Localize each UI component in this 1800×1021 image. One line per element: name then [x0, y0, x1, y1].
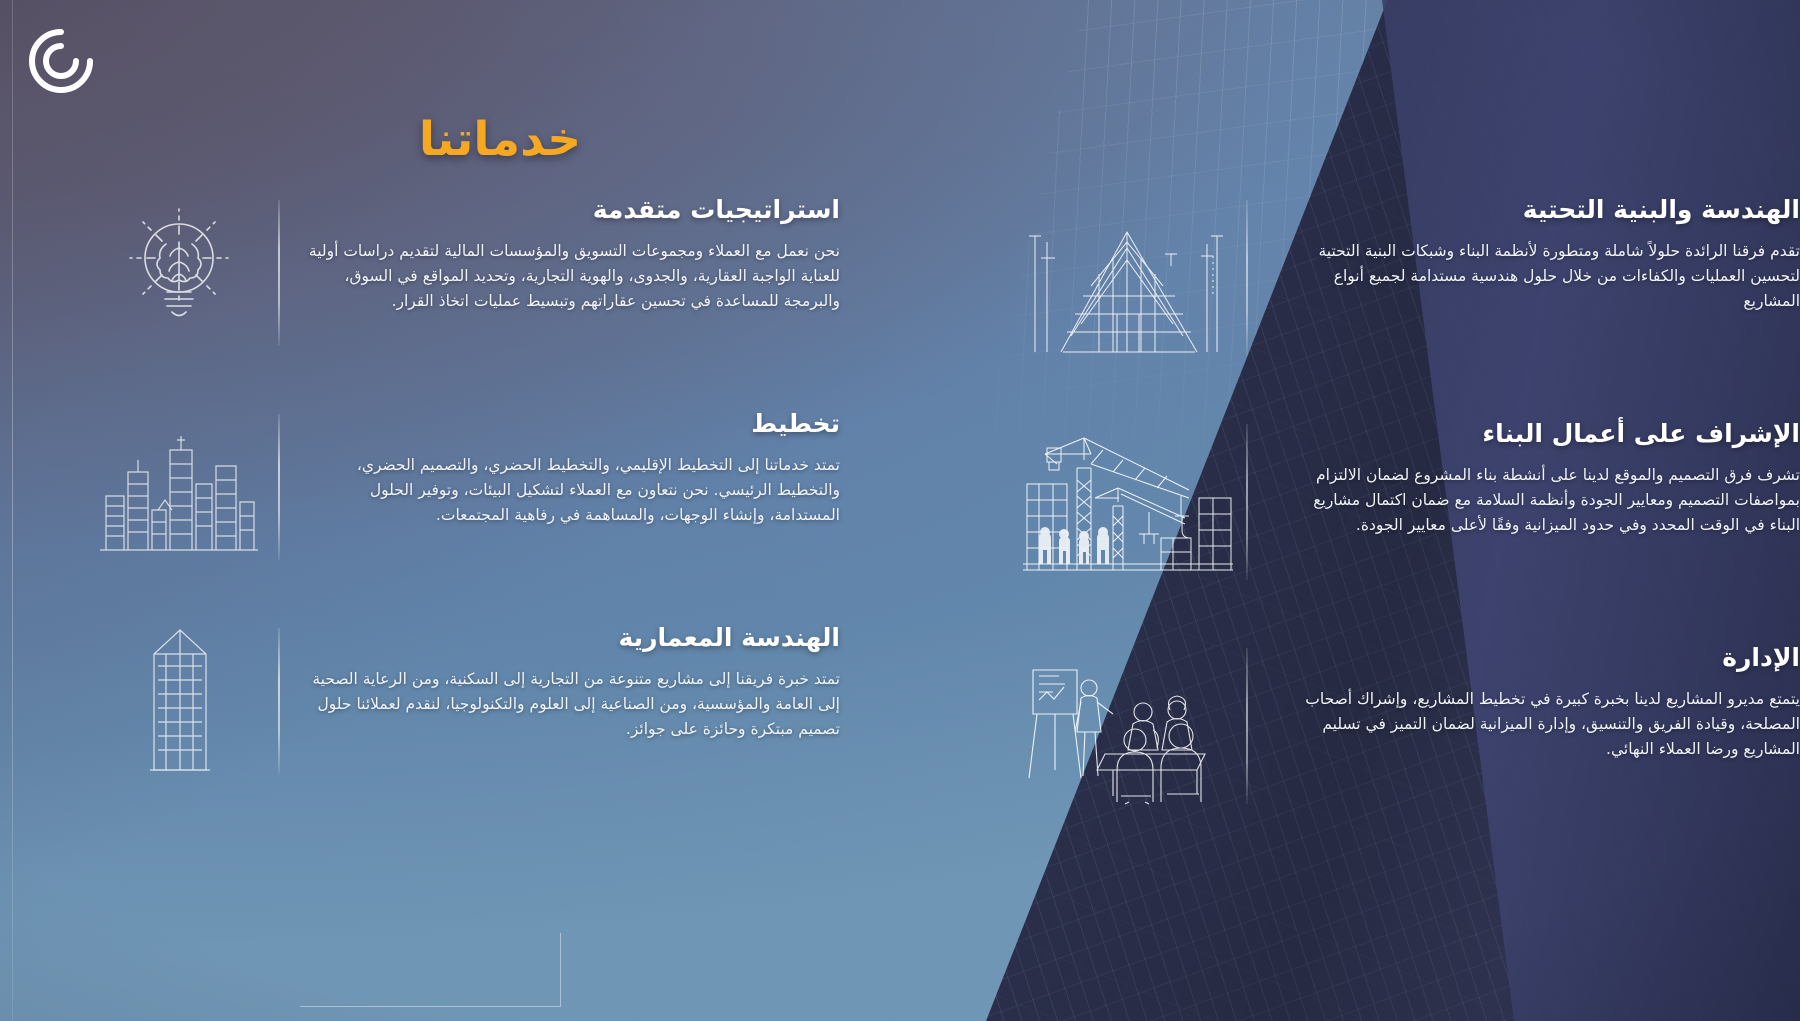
services-column-right: الهندسة والبنية التحتية تقدم فرقنا الرائ… — [900, 196, 1800, 804]
city-skyline-icon — [94, 410, 264, 560]
service-heading: الهندسة المعمارية — [300, 624, 840, 653]
card-divider — [1246, 648, 1248, 804]
card-divider — [278, 200, 280, 346]
service-card-advanced-strategies[interactable]: استراتيجيات متقدمة نحن نعمل مع العملاء و… — [0, 196, 882, 346]
page-title: خدماتنا — [0, 112, 1000, 167]
service-body: تمتد خدماتنا إلى التخطيط الإقليمي، والتخ… — [300, 453, 840, 528]
card-divider — [1246, 200, 1248, 356]
spiral-circle-logo[interactable] — [26, 26, 96, 96]
services-column-left: استراتيجيات متقدمة نحن نعمل مع العملاء و… — [0, 196, 900, 774]
construction-crane-icon — [1021, 420, 1236, 580]
service-body: تقدم فرقنا الرائدة حلولاً شاملة ومتطورة … — [1284, 239, 1800, 314]
service-card-management[interactable]: الإدارة يتمتع مديرو المشاريع لدينا بخبرة… — [900, 644, 1800, 804]
service-heading: الإدارة — [1284, 644, 1800, 673]
service-heading: الهندسة والبنية التحتية — [1284, 196, 1800, 225]
service-body: يتمتع مديرو المشاريع لدينا بخبرة كبيرة ف… — [1284, 687, 1800, 762]
service-card-architecture[interactable]: الهندسة المعمارية تمتد خبرة فريقنا إلى م… — [0, 624, 882, 774]
service-heading: تخطيط — [300, 410, 840, 439]
card-divider — [1246, 424, 1248, 580]
service-text-block: الهندسة والبنية التحتية تقدم فرقنا الرائ… — [1270, 196, 1800, 314]
skyscraper-tower-icon — [94, 624, 264, 774]
structural-wireframe-icon — [1021, 196, 1236, 356]
service-heading: الإشراف على أعمال البناء — [1284, 420, 1800, 449]
service-heading: استراتيجيات متقدمة — [300, 196, 840, 225]
lightbulb-brain-icon — [94, 196, 264, 346]
service-card-engineering-infrastructure[interactable]: الهندسة والبنية التحتية تقدم فرقنا الرائ… — [900, 196, 1800, 356]
team-meeting-icon — [1021, 644, 1236, 804]
service-card-planning[interactable]: تخطيط تمتد خدماتنا إلى التخطيط الإقليمي،… — [0, 410, 882, 560]
bottom-corner-rule-vertical — [560, 933, 561, 1007]
service-body: تشرف فرق التصميم والموقع لدينا على أنشطة… — [1284, 463, 1800, 538]
service-body: نحن نعمل مع العملاء ومجموعات التسويق وال… — [300, 239, 840, 314]
service-text-block: الإدارة يتمتع مديرو المشاريع لدينا بخبرة… — [1270, 644, 1800, 762]
card-divider — [278, 414, 280, 560]
service-card-construction-supervision[interactable]: الإشراف على أعمال البناء تشرف فرق التصمي… — [900, 420, 1800, 580]
service-text-block: تخطيط تمتد خدماتنا إلى التخطيط الإقليمي،… — [300, 410, 860, 528]
service-text-block: الإشراف على أعمال البناء تشرف فرق التصمي… — [1270, 420, 1800, 538]
card-divider — [278, 628, 280, 774]
service-text-block: استراتيجيات متقدمة نحن نعمل مع العملاء و… — [300, 196, 860, 314]
bottom-corner-rule-horizontal — [300, 1006, 560, 1007]
service-text-block: الهندسة المعمارية تمتد خبرة فريقنا إلى م… — [300, 624, 860, 742]
service-body: تمتد خبرة فريقنا إلى مشاريع متنوعة من ال… — [300, 667, 840, 742]
